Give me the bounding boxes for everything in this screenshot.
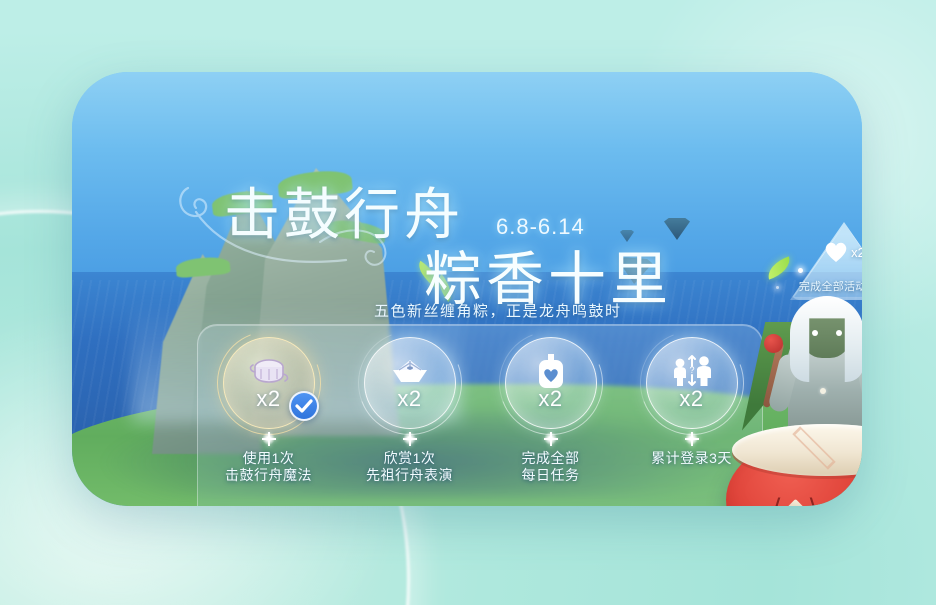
sparkle-divider-icon xyxy=(262,432,275,445)
event-card: 击鼓行舟 6.8-6.14 粽香十里 五色新丝缠角粽，正是龙舟鸣鼓时 x2 完成… xyxy=(72,72,862,506)
task-multiplier: x2 xyxy=(364,386,456,412)
drummer-character-illustration: ⟨ ⟩ xyxy=(712,300,862,506)
task-item-ancestor-boat[interactable]: x2 欣赏1次 先祖行舟表演 xyxy=(346,337,474,484)
check-icon xyxy=(289,391,319,421)
task-label-line2: 每日任务 xyxy=(522,467,580,484)
task-item-drum-magic[interactable]: x2 使用1次 击鼓行舟魔法 xyxy=(205,337,333,484)
task-label-line1: 欣赏1次 xyxy=(366,450,453,467)
task-label-line1: 使用1次 xyxy=(225,450,312,467)
sparkle-divider-icon xyxy=(544,432,557,445)
task-item-daily-tasks[interactable]: x2 完成全部 每日任务 xyxy=(487,337,615,484)
character-eye xyxy=(812,330,818,336)
drumstick-knob-icon xyxy=(764,334,783,353)
paper-boat-icon xyxy=(364,351,456,391)
heart-icon xyxy=(823,240,849,264)
robe-button xyxy=(820,388,826,394)
sparkle-divider-icon xyxy=(685,432,698,445)
reward-multiplier: x2 xyxy=(851,245,862,260)
character-eye xyxy=(836,330,842,336)
task-label-line2: 击鼓行舟魔法 xyxy=(225,467,312,484)
full-completion-reward-badge[interactable]: x2 完成全部活动任务 xyxy=(790,222,862,300)
event-subtitle: 五色新丝缠角粽，正是龙舟鸣鼓时 xyxy=(374,300,622,321)
task-orb[interactable]: x2 xyxy=(364,337,456,429)
drum-magic-icon xyxy=(223,351,315,391)
task-list: x2 使用1次 击鼓行舟魔法 xyxy=(198,325,762,506)
task-multiplier: x2 xyxy=(505,386,597,412)
task-label: 完成全部 每日任务 xyxy=(522,450,580,484)
sparkle-icon xyxy=(776,286,779,289)
sparkle-divider-icon xyxy=(403,432,416,445)
svg-text:?: ? xyxy=(689,365,694,375)
task-label-line2: 先祖行舟表演 xyxy=(366,467,453,484)
task-orb[interactable]: x2 xyxy=(223,337,315,429)
candle-heart-icon xyxy=(505,351,597,391)
task-label: 欣赏1次 先祖行舟表演 xyxy=(366,450,453,484)
drum-diamond-icon xyxy=(784,498,805,506)
reward-badge-label: 完成全部活动任务 xyxy=(790,278,862,294)
task-label: 使用1次 击鼓行舟魔法 xyxy=(225,450,312,484)
task-orb[interactable]: x2 xyxy=(505,337,597,429)
event-announcement-screen: 击鼓行舟 6.8-6.14 粽香十里 五色新丝缠角粽，正是龙舟鸣鼓时 x2 完成… xyxy=(0,0,936,605)
task-label-line1: 完成全部 xyxy=(522,450,580,467)
task-panel: x2 使用1次 击鼓行舟魔法 xyxy=(197,324,763,506)
drum-emblem-icon: ⟨ ⟩ xyxy=(758,492,832,506)
